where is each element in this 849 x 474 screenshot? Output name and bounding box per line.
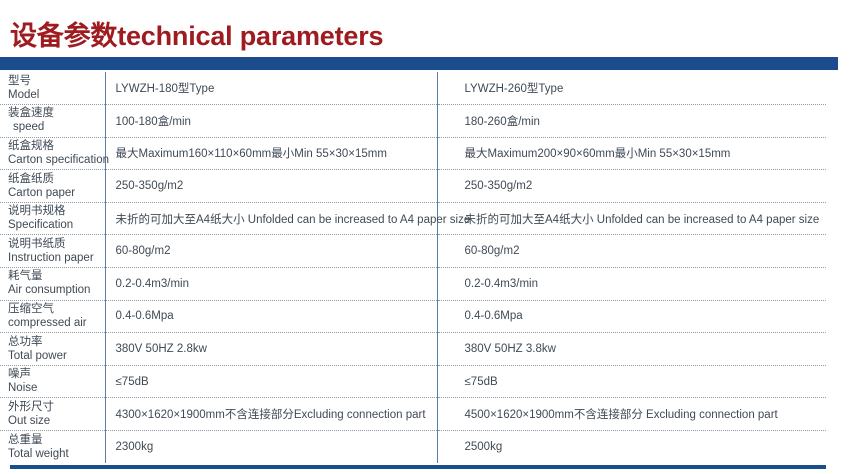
row-label-en: Air consumption: [8, 283, 101, 297]
row-label-cell: 耗气量Air consumption: [0, 268, 105, 301]
header-blue-bar: [0, 57, 838, 70]
row-label-zh: 说明书纸质: [8, 238, 101, 251]
page-title: 设备参数technical parameters: [10, 20, 383, 52]
row-value-model-260: 60-80g/m2: [437, 235, 826, 268]
row-value-model-260: 250-350g/m2: [437, 170, 826, 203]
row-label-zh: 耗气量: [8, 270, 101, 283]
row-label-cell: 说明书纸质Instruction paper: [0, 235, 105, 268]
table-row: 耗气量Air consumption0.2-0.4m3/min0.2-0.4m3…: [0, 268, 826, 301]
row-value-model-260: 最大Maximum200×90×60mm最小Min 55×30×15mm: [437, 137, 826, 170]
row-value-model-180: 0.2-0.4m3/min: [105, 268, 437, 301]
row-value-model-260: LYWZH-260型Type: [437, 72, 826, 105]
row-value-model-260: 4500×1620×1900mm不含连接部分 Excluding connect…: [437, 398, 826, 431]
table-row: 说明书纸质Instruction paper60-80g/m260-80g/m2: [0, 235, 826, 268]
row-value-model-260: 未折的可加大至A4纸大小 Unfolded can be increased t…: [437, 202, 826, 235]
technical-parameters-table: 型号ModelLYWZH-180型TypeLYWZH-260型Type装盒速度s…: [0, 72, 826, 463]
row-label-en: Total weight: [8, 447, 101, 461]
row-label-cell: 型号Model: [0, 72, 105, 105]
row-label-cell: 总重量Total weight: [0, 431, 105, 464]
row-value-model-180: 最大Maximum160×110×60mm最小Min 55×30×15mm: [105, 137, 437, 170]
row-label-cell: 压缩空气compressed air: [0, 300, 105, 333]
row-label-cell: 说明书规格Specification: [0, 202, 105, 235]
table-row: 噪声Noise≤75dB≤75dB: [0, 365, 826, 398]
row-label-zh: 总重量: [8, 434, 101, 447]
row-value-model-180: 2300kg: [105, 431, 437, 464]
row-label-cell: 纸盒规格Carton specification: [0, 137, 105, 170]
row-value-model-260: 380V 50HZ 3.8kw: [437, 333, 826, 366]
row-value-model-180: 0.4-0.6Mpa: [105, 300, 437, 333]
row-label-cell: 外形尺寸Out size: [0, 398, 105, 431]
row-value-model-180: ≤75dB: [105, 365, 437, 398]
table-row: 总功率Total power380V 50HZ 2.8kw380V 50HZ 3…: [0, 333, 826, 366]
table-row: 外形尺寸Out size4300×1620×1900mm不含连接部分Exclud…: [0, 398, 826, 431]
table-body: 型号ModelLYWZH-180型TypeLYWZH-260型Type装盒速度s…: [0, 72, 826, 463]
row-label-zh: 压缩空气: [8, 303, 101, 316]
row-label-en: Out size: [8, 414, 101, 428]
spec-sheet-page: 设备参数technical parameters 型号ModelLYWZH-18…: [0, 0, 849, 474]
row-value-model-180: LYWZH-180型Type: [105, 72, 437, 105]
row-label-en: speed: [8, 120, 101, 134]
row-label-en: compressed air: [8, 316, 101, 330]
row-label-zh: 外形尺寸: [8, 401, 101, 414]
row-label-zh: 说明书规格: [8, 205, 101, 218]
table-row: 装盒速度speed100-180盒/min180-260盒/min: [0, 105, 826, 138]
row-value-model-180: 4300×1620×1900mm不含连接部分Excluding connecti…: [105, 398, 437, 431]
row-label-en: Instruction paper: [8, 251, 101, 265]
row-value-model-180: 250-350g/m2: [105, 170, 437, 203]
row-value-model-260: ≤75dB: [437, 365, 826, 398]
row-label-en: Noise: [8, 381, 101, 395]
table-row: 纸盒规格Carton specification最大Maximum160×110…: [0, 137, 826, 170]
table-row: 压缩空气compressed air0.4-0.6Mpa0.4-0.6Mpa: [0, 300, 826, 333]
row-value-model-260: 180-260盒/min: [437, 105, 826, 138]
row-label-en: Specification: [8, 218, 101, 232]
row-label-cell: 纸盒纸质Carton paper: [0, 170, 105, 203]
row-value-model-260: 0.2-0.4m3/min: [437, 268, 826, 301]
row-value-model-180: 未折的可加大至A4纸大小 Unfolded can be increased t…: [105, 202, 437, 235]
row-label-zh: 噪声: [8, 368, 101, 381]
row-label-zh: 纸盒纸质: [8, 173, 101, 186]
row-label-zh: 装盒速度: [8, 107, 101, 120]
row-value-model-260: 0.4-0.6Mpa: [437, 300, 826, 333]
row-label-zh: 纸盒规格: [8, 140, 101, 153]
row-label-cell: 装盒速度speed: [0, 105, 105, 138]
row-value-model-180: 100-180盒/min: [105, 105, 437, 138]
table-row: 纸盒纸质Carton paper250-350g/m2250-350g/m2: [0, 170, 826, 203]
row-label-en: Model: [8, 88, 101, 102]
table-row: 说明书规格Specification未折的可加大至A4纸大小 Unfolded …: [0, 202, 826, 235]
row-label-zh: 总功率: [8, 336, 101, 349]
row-label-cell: 噪声Noise: [0, 365, 105, 398]
row-label-en: Total power: [8, 349, 101, 363]
table-row: 总重量Total weight2300kg2500kg: [0, 431, 826, 464]
footer-blue-bar: [10, 465, 826, 469]
row-value-model-180: 60-80g/m2: [105, 235, 437, 268]
row-value-model-260: 2500kg: [437, 431, 826, 464]
row-label-cell: 总功率Total power: [0, 333, 105, 366]
row-label-zh: 型号: [8, 75, 101, 88]
row-label-en: Carton paper: [8, 186, 101, 200]
row-value-model-180: 380V 50HZ 2.8kw: [105, 333, 437, 366]
table-row: 型号ModelLYWZH-180型TypeLYWZH-260型Type: [0, 72, 826, 105]
row-label-en: Carton specification: [8, 153, 101, 167]
